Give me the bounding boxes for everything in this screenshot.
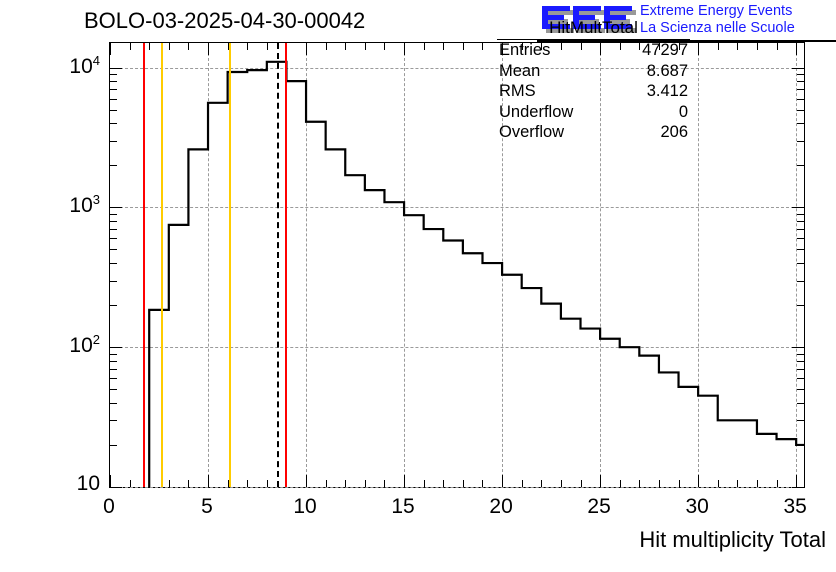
- y-tick-label: 102: [42, 332, 100, 358]
- stats-value: 47297: [642, 40, 688, 61]
- y-tick-label: 103: [42, 192, 100, 218]
- stats-box: HitMultTotal Entries47297Mean8.687RMS3.4…: [497, 18, 690, 143]
- marker-line-mean-dashed: [277, 43, 279, 487]
- x-tick-label: 0: [103, 495, 115, 519]
- histogram-curve: [110, 43, 804, 487]
- stats-row: Mean8.687: [497, 61, 690, 82]
- stats-value: 206: [660, 122, 688, 143]
- stats-row: Entries47297: [497, 40, 690, 61]
- page-title: BOLO-03-2025-04-30-00042: [84, 8, 365, 34]
- marker-line-threshold-low-orange: [161, 43, 163, 487]
- marker-line-threshold-high-orange: [229, 43, 231, 487]
- y-tick-label: 10: [60, 472, 100, 496]
- x-axis-title: Hit multiplicity Total: [639, 527, 826, 553]
- y-tick-label: 104: [42, 53, 100, 79]
- stats-row: RMS3.412: [497, 81, 690, 102]
- stats-key: Entries: [499, 40, 550, 61]
- stats-row: Overflow206: [497, 122, 690, 143]
- stats-title: HitMultTotal: [497, 18, 690, 40]
- x-tick-label: 15: [391, 495, 414, 519]
- x-tick-label: 5: [201, 495, 213, 519]
- x-tick-label: 35: [783, 495, 806, 519]
- axis-tick: [110, 487, 122, 488]
- stats-row: Underflow0: [497, 102, 690, 123]
- marker-line-threshold-low-red: [143, 43, 145, 487]
- histogram-plot: [109, 42, 805, 488]
- x-tick-label: 10: [293, 495, 316, 519]
- x-tick-label: 30: [685, 495, 708, 519]
- grid-line-horizontal: [110, 487, 804, 488]
- stats-key: RMS: [499, 81, 536, 102]
- stats-key: Overflow: [499, 122, 564, 143]
- stats-value: 0: [679, 102, 688, 123]
- eee-logo-line1: Extreme Energy Events: [640, 3, 792, 19]
- axis-tick: [792, 487, 804, 488]
- stats-value: 8.687: [647, 61, 688, 82]
- x-tick-label: 20: [489, 495, 512, 519]
- root-canvas: BOLO-03-2025-04-30-00042: [0, 0, 836, 572]
- stats-key: Underflow: [499, 102, 573, 123]
- marker-line-threshold-high-red: [285, 43, 287, 487]
- stats-rows: Entries47297Mean8.687RMS3.412Underflow0O…: [497, 40, 690, 143]
- stats-key: Mean: [499, 61, 540, 82]
- x-tick-label: 25: [587, 495, 610, 519]
- stats-value: 3.412: [647, 81, 688, 102]
